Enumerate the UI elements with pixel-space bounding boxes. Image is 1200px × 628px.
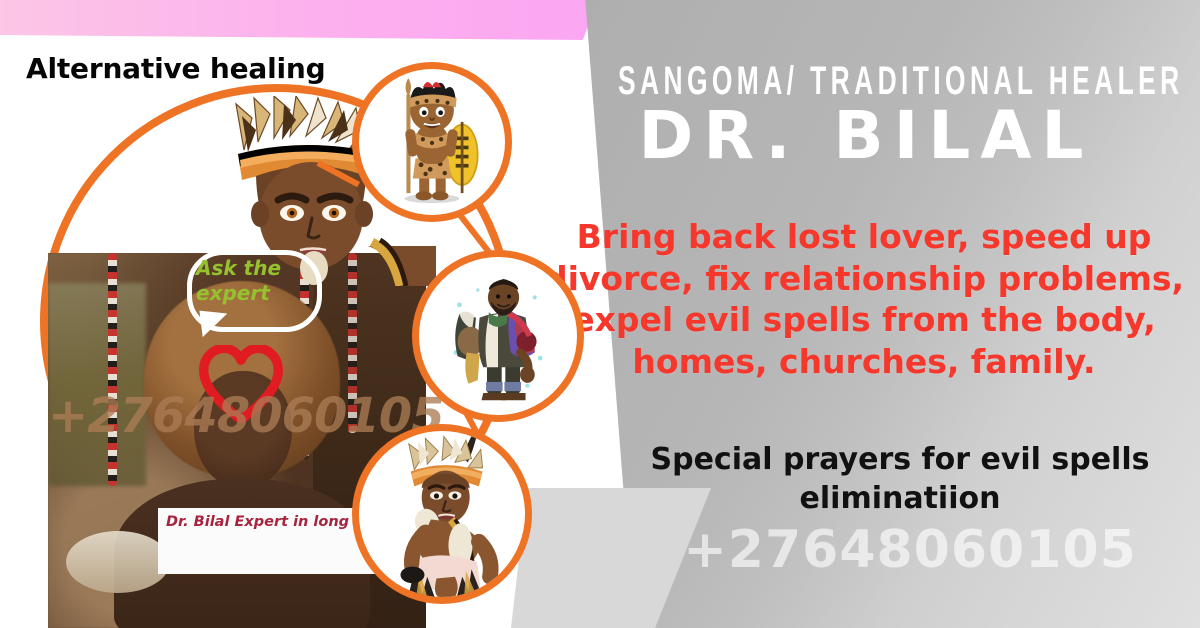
pink-accent-bar	[0, 0, 598, 40]
speech-bubble-text: Ask the expert	[196, 256, 312, 306]
speech-bubble-tail	[197, 311, 228, 340]
healer-name: DR. BILAL	[556, 100, 1176, 171]
crouching-warrior-illustration	[359, 431, 525, 597]
circle-crouching-warrior	[352, 424, 532, 604]
special-prayers-paragraph: Special prayers for evil spells eliminat…	[600, 440, 1200, 518]
beaded-strand	[108, 253, 117, 486]
poster-canvas: Alternative healing	[0, 0, 1200, 628]
circle-zulu-warrior	[352, 62, 512, 222]
traveling-healer-illustration	[419, 257, 577, 415]
photo-watermark-phone: +27648060105	[48, 388, 448, 444]
page-title: Alternative healing	[26, 52, 325, 85]
photo-calabash-bowl	[66, 531, 170, 593]
header-block: SANGOMA/ TRADITIONAL HEALER DR. BILAL	[556, 60, 1176, 171]
photo-grass-area	[48, 283, 146, 486]
ghost-phone-number: +27648060105	[620, 524, 1200, 576]
zulu-warrior-illustration	[359, 69, 505, 215]
services-paragraph: Bring back lost lover, speed up divorce,…	[540, 216, 1188, 382]
kicker-text: SANGOMA/ TRADITIONAL HEALER	[618, 60, 1114, 100]
circle-traveling-healer	[412, 250, 584, 422]
